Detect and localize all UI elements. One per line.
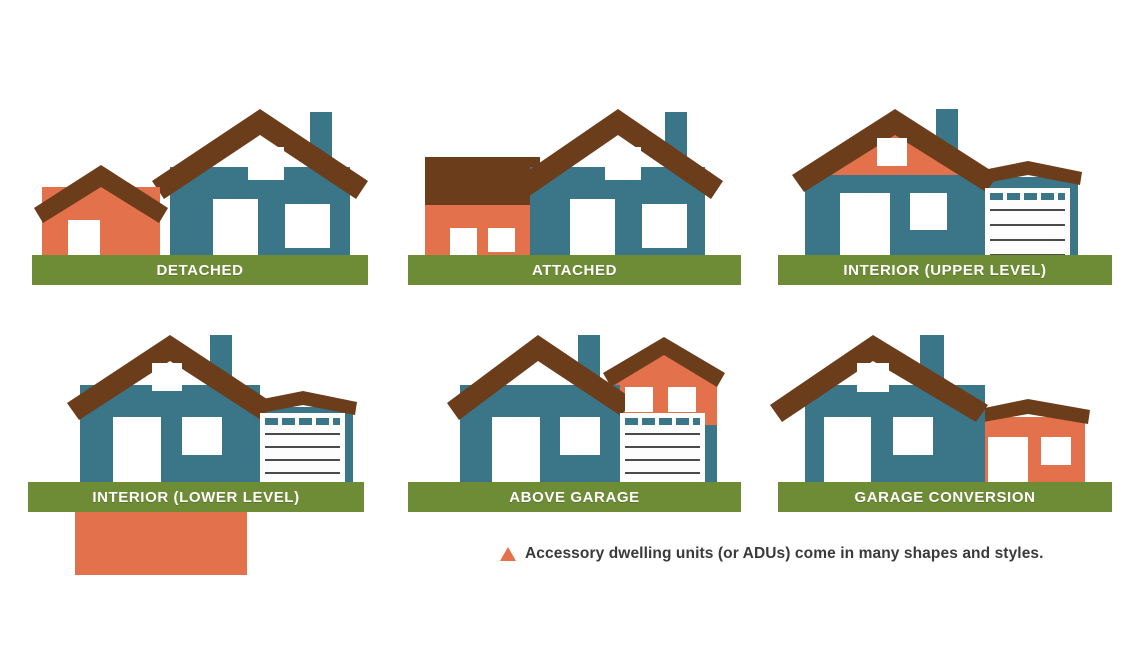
interior-lower-illustration xyxy=(0,325,380,575)
panel-garage-conversion: GARAGE CONVERSION xyxy=(760,325,1140,520)
ground-band xyxy=(408,482,741,512)
detached-illustration xyxy=(0,95,380,290)
garage-door-panes xyxy=(990,193,1065,200)
main-house-window-lower xyxy=(893,417,933,455)
caption-text: Accessory dwelling units (or ADUs) come … xyxy=(525,546,1044,562)
garage-conversion-illustration xyxy=(760,325,1140,520)
garage-door-panes xyxy=(265,418,340,425)
main-house-window-upper xyxy=(248,147,284,180)
panel-attached: ATTACHED xyxy=(380,95,760,290)
ground-band xyxy=(28,482,364,512)
adu-window-left xyxy=(625,387,653,412)
main-house-door xyxy=(113,417,161,482)
ground-band xyxy=(778,482,1112,512)
main-house-window-upper xyxy=(857,363,889,392)
main-house-window-lower xyxy=(642,204,687,248)
main-house-window-upper xyxy=(605,147,641,180)
main-house-body xyxy=(805,175,985,266)
adu-window xyxy=(488,228,515,252)
panel-interior-lower: INTERIOR (LOWER LEVEL) xyxy=(0,325,380,575)
orange-triangle-icon xyxy=(500,547,516,561)
panel-interior-upper: INTERIOR (UPPER LEVEL) xyxy=(760,95,1140,290)
ground-band xyxy=(778,255,1112,285)
caption: Accessory dwelling units (or ADUs) come … xyxy=(500,546,1044,562)
panel-above-garage: ABOVE GARAGE xyxy=(380,325,760,520)
main-house-door xyxy=(824,417,871,482)
main-house-window-upper xyxy=(152,363,182,391)
ground-band xyxy=(408,255,741,285)
ground-band xyxy=(32,255,368,285)
main-house-door xyxy=(492,417,540,482)
main-house-window xyxy=(560,417,600,455)
panel-detached: DETACHED xyxy=(0,95,380,290)
main-house-window-lower xyxy=(285,204,330,248)
main-house-window xyxy=(910,193,947,230)
adu-window xyxy=(877,138,907,166)
interior-upper-illustration xyxy=(760,95,1140,290)
above-garage-illustration xyxy=(380,325,760,520)
garage-door-panes xyxy=(625,418,700,425)
adu-window-right xyxy=(668,387,696,412)
adu-window xyxy=(1041,437,1071,465)
main-house-window-lower xyxy=(182,417,222,455)
attached-illustration xyxy=(380,95,760,290)
infographic-canvas: DETACHED ATTACHED xyxy=(0,0,1140,665)
